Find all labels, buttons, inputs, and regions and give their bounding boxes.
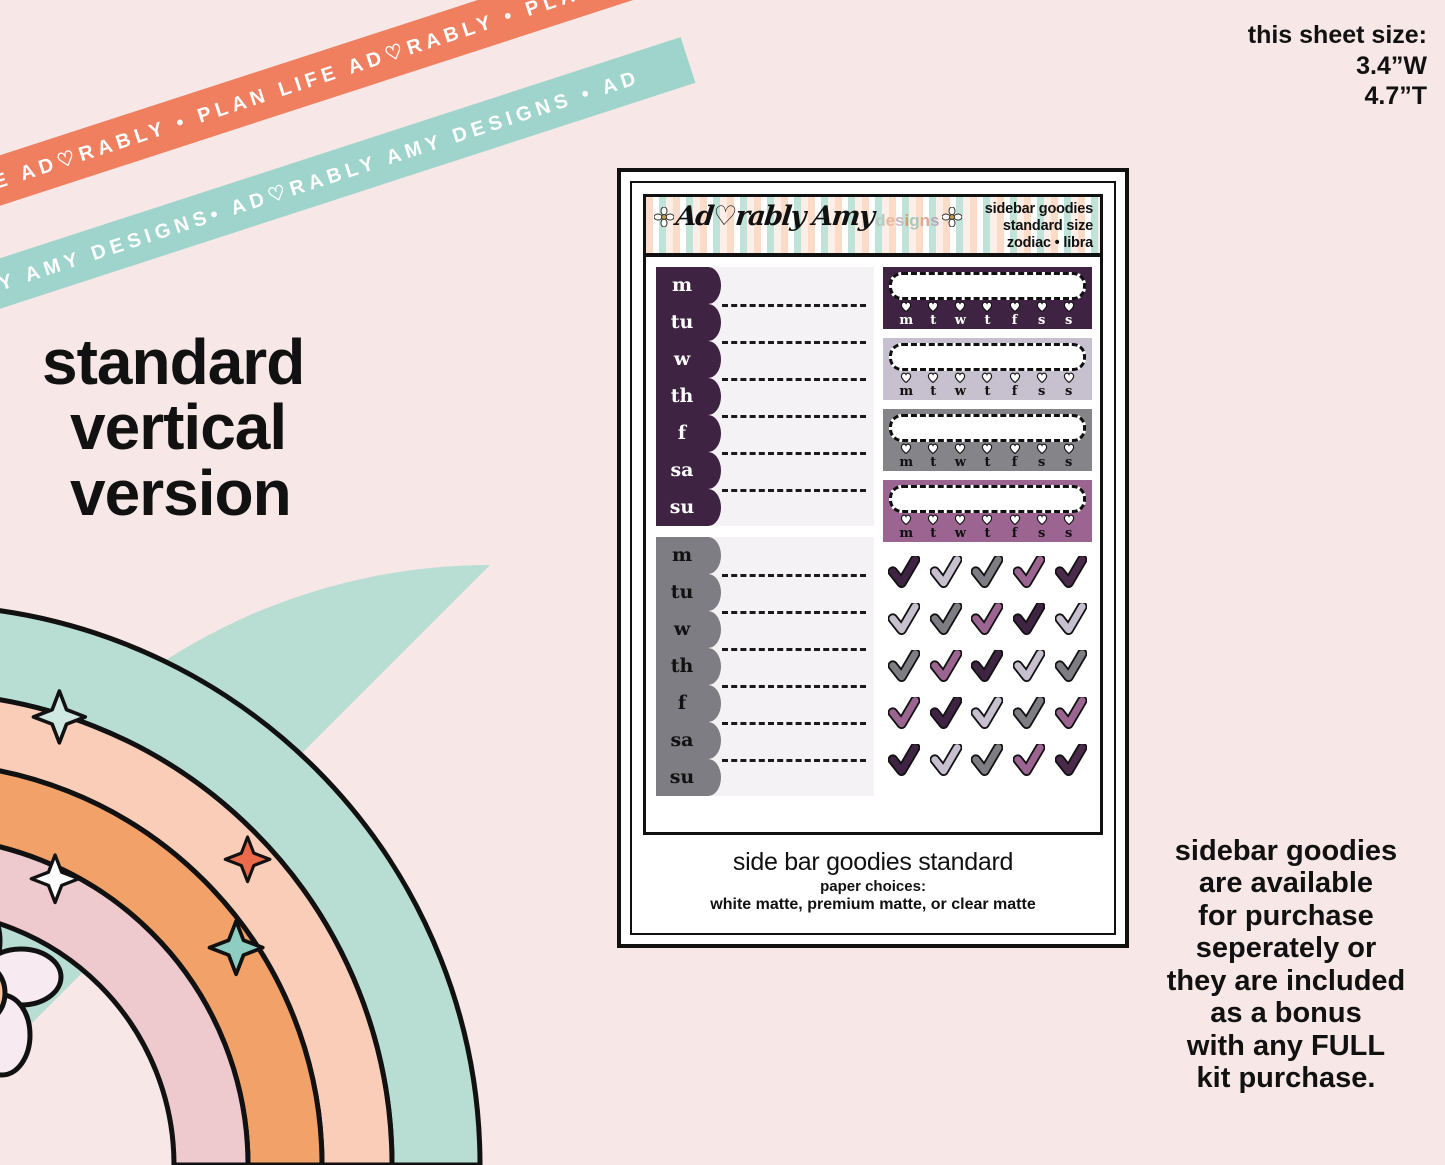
tracker-day-label: m [893, 527, 919, 541]
designs-letter-6: n [920, 211, 930, 230]
tracker-day-label: s [1028, 385, 1054, 399]
dashed-line [722, 489, 866, 492]
promo-line-8: kit purchase. [1140, 1062, 1432, 1094]
day-tab-su: su [656, 759, 708, 796]
tracker-day-row: mtwtfss [889, 442, 1086, 470]
promo-line-4: seperately or [1140, 932, 1432, 964]
tracker-day-label: s [1055, 456, 1081, 470]
product-frame: Ad♡rably Amy designs sidebar goodies [617, 168, 1129, 948]
tracker-day-label: s [1028, 314, 1054, 328]
product-caption: side bar goodies standard paper choices:… [643, 835, 1103, 914]
tracker-day-cell[interactable]: m [893, 301, 919, 328]
dashed-line [722, 722, 866, 725]
checkmark-sticker[interactable] [967, 739, 1009, 784]
dashed-line [722, 759, 866, 762]
stickers-column: mtwtfssmtwtfssmtwtfssmtwtfss [883, 267, 1092, 807]
checkmark-sticker[interactable] [1050, 692, 1092, 737]
tracker-day-label: f [1001, 314, 1027, 328]
sheet-body: mtuwthfsasumtuwthfsasu mtwtfssmtwtfssmtw… [646, 257, 1100, 807]
day-tab-sa: sa [656, 722, 708, 759]
tracker-day-label: s [1028, 527, 1054, 541]
tracker-day-label: w [947, 385, 973, 399]
tracker-day-row: mtwtfss [889, 371, 1086, 399]
day-tab-label: f [678, 694, 686, 713]
sheet-size-height: 4.7”T [1248, 81, 1427, 112]
tracker-day-cell[interactable]: s [1055, 514, 1081, 541]
tracker-day-row: mtwtfss [889, 300, 1086, 328]
checkmark-sticker[interactable] [925, 739, 967, 784]
tracker-day-cell[interactable]: s [1028, 443, 1054, 470]
sidebar-strip-plum: mtuwthfsasu [656, 267, 874, 526]
checkmark-sticker[interactable] [1008, 551, 1050, 596]
tracker-write-in-field[interactable] [889, 414, 1086, 442]
tracker-day-cell[interactable]: f [1001, 443, 1027, 470]
tracker-day-cell[interactable]: t [920, 514, 946, 541]
day-tab-f: f [656, 415, 708, 452]
tracker-day-cell[interactable]: t [974, 372, 1000, 399]
tracker-write-in-field[interactable] [889, 272, 1086, 300]
checkmark-sticker[interactable] [883, 598, 925, 643]
tracker-day-cell[interactable]: t [974, 443, 1000, 470]
day-tab-tu: tu [656, 304, 708, 341]
sticker-sheet: Ad♡rably Amy designs sidebar goodies [643, 194, 1103, 835]
day-tab-tu: tu [656, 574, 708, 611]
day-tab-label: tu [671, 313, 694, 332]
daisy-icon [942, 207, 962, 227]
designs-letter-1: d [875, 211, 885, 230]
tracker-day-label: w [947, 527, 973, 541]
checkmark-sticker[interactable] [1008, 739, 1050, 784]
day-tab-f: f [656, 685, 708, 722]
day-tab-label: su [670, 498, 695, 517]
tracker-day-label: s [1028, 456, 1054, 470]
day-tab-label: w [674, 350, 690, 369]
promo-line-7: with any FULL [1140, 1030, 1432, 1062]
day-tab-label: su [670, 768, 695, 787]
dashed-line [722, 685, 866, 688]
writing-lines [708, 537, 874, 796]
checkmark-sticker[interactable] [1008, 598, 1050, 643]
tracker-day-cell[interactable]: f [1001, 301, 1027, 328]
tracker-day-label: m [893, 456, 919, 470]
day-tab-m: m [656, 537, 708, 574]
checkmark-sticker[interactable] [1008, 692, 1050, 737]
sheet-header: Ad♡rably Amy designs sidebar goodies [646, 197, 1100, 257]
scalloped-day-tab-column: mtuwthfsasu [656, 267, 708, 526]
product-frame-inner: Ad♡rably Amy designs sidebar goodies [630, 181, 1116, 935]
day-tab-label: th [671, 657, 694, 676]
tracker-day-label: f [1001, 456, 1027, 470]
scalloped-day-tab-column: mtuwthfsasu [656, 537, 708, 796]
day-tab-label: w [674, 620, 690, 639]
checkmark-sticker[interactable] [967, 692, 1009, 737]
brand-logo: Ad♡rably Amy designs [654, 201, 962, 232]
tracker-day-label: m [893, 314, 919, 328]
tracker-plum: mtwtfss [883, 267, 1092, 329]
sheet-size-width: 3.4”W [1248, 51, 1427, 82]
checkmark-sticker[interactable] [883, 645, 925, 690]
tracker-day-cell[interactable]: f [1001, 514, 1027, 541]
day-tab-m: m [656, 267, 708, 304]
designs-letter-5: g [909, 211, 919, 230]
tracker-day-label: f [1001, 527, 1027, 541]
headline: standard vertical version [42, 330, 304, 526]
tracker-day-cell[interactable]: w [947, 301, 973, 328]
tracker-day-label: s [1055, 314, 1081, 328]
tracker-lavender: mtwtfss [883, 338, 1092, 400]
dashed-line [722, 304, 866, 307]
checkmark-grid [883, 551, 1092, 784]
checkmark-sticker[interactable] [967, 598, 1009, 643]
tracker-day-label: t [920, 527, 946, 541]
promo-line-3: for purchase [1140, 900, 1432, 932]
day-tab-label: tu [671, 583, 694, 602]
checkmark-sticker[interactable] [883, 551, 925, 596]
caption-title: side bar goodies standard [643, 848, 1103, 877]
day-tab-label: m [672, 546, 692, 565]
sheet-title-line-3: zodiac • libra [985, 235, 1093, 252]
day-tab-w: w [656, 341, 708, 378]
checkmark-sticker[interactable] [967, 645, 1009, 690]
checkmark-sticker[interactable] [1050, 645, 1092, 690]
brand-designs-text: designs [875, 211, 939, 231]
headline-line-2: vertical [42, 395, 304, 460]
tracker-mauve: mtwtfss [883, 480, 1092, 542]
checkmark-sticker[interactable] [1050, 739, 1092, 784]
tracker-day-label: t [920, 456, 946, 470]
rainbow-decoration [0, 545, 560, 1165]
sheet-size-label: this sheet size: [1248, 20, 1427, 51]
tracker-day-cell[interactable]: s [1028, 301, 1054, 328]
promo-line-2: are available [1140, 867, 1432, 899]
day-tab-label: sa [670, 731, 693, 750]
tracker-day-label: w [947, 314, 973, 328]
dashed-line [722, 574, 866, 577]
tracker-day-label: s [1055, 385, 1081, 399]
headline-line-3: version [42, 461, 304, 526]
day-tab-label: m [672, 276, 692, 295]
dashed-line [722, 452, 866, 455]
tracker-day-cell[interactable]: t [920, 372, 946, 399]
tracker-write-in-field[interactable] [889, 485, 1086, 513]
dashed-line [722, 648, 866, 651]
tracker-day-cell[interactable]: s [1028, 372, 1054, 399]
day-tab-th: th [656, 648, 708, 685]
tracker-day-label: t [920, 385, 946, 399]
tracker-day-cell[interactable]: s [1028, 514, 1054, 541]
designs-letter-2: e [886, 211, 895, 230]
sheet-size-note: this sheet size: 3.4”W 4.7”T [1248, 20, 1427, 112]
designs-letter-3: s [895, 211, 904, 230]
writing-lines [708, 267, 874, 526]
daisy-icon [654, 207, 674, 227]
dashed-line [722, 378, 866, 381]
tracker-gray: mtwtfss [883, 409, 1092, 471]
tracker-day-label: t [974, 456, 1000, 470]
checkmark-sticker[interactable] [883, 739, 925, 784]
tracker-day-cell[interactable]: t [920, 301, 946, 328]
day-tab-w: w [656, 611, 708, 648]
checkmark-sticker[interactable] [883, 692, 925, 737]
checkmark-sticker[interactable] [925, 598, 967, 643]
tracker-day-cell[interactable]: s [1055, 301, 1081, 328]
dashed-line [722, 611, 866, 614]
day-tab-th: th [656, 378, 708, 415]
tracker-day-row: mtwtfss [889, 513, 1086, 541]
tracker-day-label: t [974, 385, 1000, 399]
caption-paper-options: white matte, premium matte, or clear mat… [643, 896, 1103, 914]
tracker-write-in-field[interactable] [889, 343, 1086, 371]
tracker-day-cell[interactable]: s [1055, 372, 1081, 399]
day-tab-label: sa [670, 461, 693, 480]
tracker-day-label: m [893, 385, 919, 399]
checkmark-sticker[interactable] [967, 551, 1009, 596]
checkmark-sticker[interactable] [1050, 551, 1092, 596]
day-tab-su: su [656, 489, 708, 526]
brand-script-text: Ad♡rably Amy [674, 201, 874, 232]
tracker-day-label: f [1001, 385, 1027, 399]
tracker-day-label: w [947, 456, 973, 470]
tracker-day-cell[interactable]: t [920, 443, 946, 470]
tracker-day-label: s [1055, 527, 1081, 541]
promo-text: sidebar goodiesare availablefor purchase… [1140, 835, 1432, 1095]
tracker-day-cell[interactable]: t [974, 514, 1000, 541]
promo-line-1: sidebar goodies [1140, 835, 1432, 867]
tracker-day-label: t [974, 527, 1000, 541]
sheet-title-line-2: standard size [985, 218, 1093, 235]
ribbon-plan-life-adorably: PLAN LIFE AD♡RABLY • PLAN LIFE AD♡RABLY … [0, 0, 695, 258]
promo-line-5: they are included [1140, 965, 1432, 997]
headline-line-1: standard [42, 330, 304, 395]
tracker-day-cell[interactable]: m [893, 443, 919, 470]
tracker-day-cell[interactable]: w [947, 443, 973, 470]
promo-line-6: as a bonus [1140, 997, 1432, 1029]
day-tab-label: th [671, 387, 694, 406]
checkmark-sticker[interactable] [925, 692, 967, 737]
checkmark-sticker[interactable] [925, 551, 967, 596]
tracker-day-cell[interactable]: s [1055, 443, 1081, 470]
tracker-day-cell[interactable]: m [893, 372, 919, 399]
checkmark-sticker[interactable] [925, 645, 967, 690]
checkmark-sticker[interactable] [1050, 598, 1092, 643]
day-tab-label: f [678, 424, 686, 443]
sidebar-strip-gray: mtuwthfsasu [656, 537, 874, 796]
sheet-title: sidebar goodies standard size zodiac • l… [985, 201, 1093, 252]
habit-trackers-group: mtwtfssmtwtfssmtwtfssmtwtfss [883, 267, 1092, 542]
designs-letter-7: s [930, 211, 939, 230]
day-tab-sa: sa [656, 452, 708, 489]
tracker-day-cell[interactable]: w [947, 514, 973, 541]
ribbon-text: AD♡RABLY AMY DESIGNS• AD♡RABLY AMY DESIG… [0, 64, 643, 338]
dashed-line [722, 341, 866, 344]
sheet-title-line-1: sidebar goodies [985, 201, 1093, 218]
dashed-line [722, 415, 866, 418]
tracker-day-cell[interactable]: f [1001, 372, 1027, 399]
tracker-day-cell[interactable]: w [947, 372, 973, 399]
sidebar-strips-column: mtuwthfsasumtuwthfsasu [656, 267, 874, 807]
tracker-day-label: t [920, 314, 946, 328]
tracker-day-cell[interactable]: m [893, 514, 919, 541]
caption-paper-label: paper choices: [643, 878, 1103, 895]
tracker-day-label: t [974, 314, 1000, 328]
checkmark-sticker[interactable] [1008, 645, 1050, 690]
tracker-day-cell[interactable]: t [974, 301, 1000, 328]
